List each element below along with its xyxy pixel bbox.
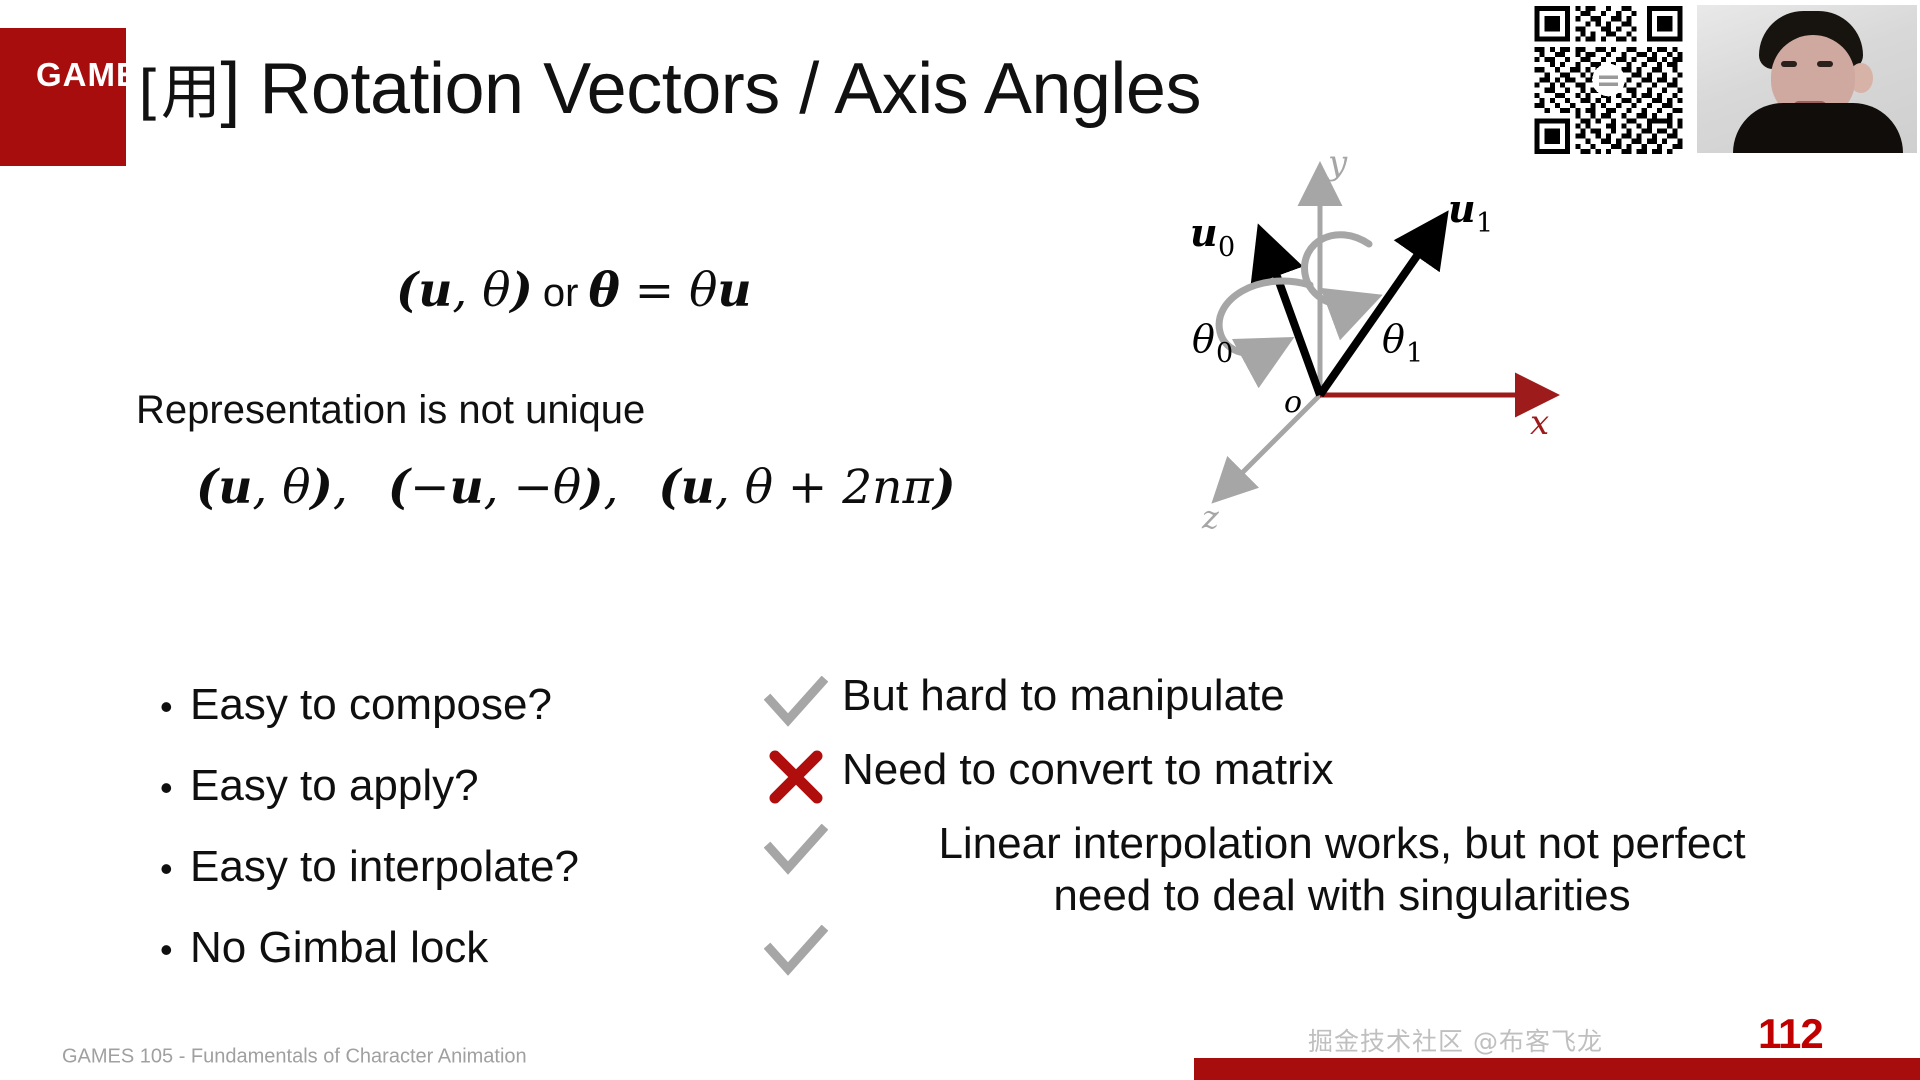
property-answer-list: But hard to manipulate Need to convert t… [750, 670, 1870, 936]
qr-code [1532, 6, 1685, 154]
bullet-dot-icon: • [160, 689, 190, 725]
webcam-torso [1733, 103, 1903, 153]
brand-accent-block [0, 28, 126, 166]
vector-u1-subscript: 1 [1476, 208, 1493, 239]
rotation-arc-theta1 [1305, 235, 1369, 306]
answer-label: Need to convert to matrix [842, 744, 1334, 796]
title-main-text: ] Rotation Vectors / Axis Angles [220, 49, 1201, 129]
title-bracket-open: [ [138, 58, 161, 128]
axis-angle-diagram: u 0 u 1 θ 0 θ 1 o x y z [1130, 150, 1650, 550]
vector-u0-label: u [1190, 210, 1218, 255]
check-icon [750, 925, 842, 979]
answer-label: But hard to manipulate [842, 670, 1285, 722]
check-icon [750, 670, 842, 730]
list-item-label: Easy to compose? [190, 680, 552, 730]
bullet-dot-icon: • [160, 770, 190, 806]
presenter-webcam [1697, 5, 1917, 153]
slide-canvas: GAMES [用] Rotation Vectors / Axis Angles [0, 0, 1920, 1080]
equation-non-unique-set: (u, θ),(−u, −θ),(u, θ + 2nπ) [196, 460, 956, 515]
check-icon [750, 818, 842, 878]
vector-u1-label: u [1448, 186, 1476, 231]
webcam-eye-right [1817, 61, 1833, 67]
cross-icon [750, 744, 842, 804]
origin-label: o [1284, 385, 1302, 420]
list-item-label: No Gimbal lock [190, 923, 488, 973]
page-number: 112 [1758, 1010, 1823, 1058]
list-item: • Easy to interpolate? [160, 842, 720, 923]
answer-row: But hard to manipulate [750, 670, 1870, 730]
vector-u0-subscript: 0 [1218, 232, 1235, 263]
axis-z-label: z [1201, 498, 1220, 536]
bullet-dot-icon: • [160, 932, 190, 968]
title-cjk-glyph: 用 [161, 58, 221, 128]
footer-course-label: GAMES 105 - Fundamentals of Character An… [62, 1046, 527, 1069]
angle-theta1-subscript: 1 [1406, 338, 1423, 369]
vector-u0 [1266, 246, 1320, 395]
footer-accent-bar [1194, 1058, 1920, 1080]
axis-y-label: y [1326, 150, 1348, 183]
answer-row: Need to convert to matrix [750, 744, 1870, 804]
list-item: • No Gimbal lock [160, 923, 720, 1004]
webcam-eye-left [1781, 61, 1797, 67]
bullet-dot-icon: • [160, 851, 190, 887]
angle-theta1-label: θ [1382, 317, 1405, 361]
list-item-label: Easy to interpolate? [190, 842, 579, 892]
answer-label: Linear interpolation works, but not perf… [842, 818, 1842, 922]
equation-axis-angle-pair: (u, θ)or𝜽 = θu [396, 263, 752, 318]
answer-row: Linear interpolation works, but not perf… [750, 818, 1870, 922]
property-question-list: • Easy to compose? • Easy to apply? • Ea… [160, 680, 720, 1004]
angle-theta0-subscript: 0 [1216, 338, 1233, 369]
equation-or-word: or [533, 271, 589, 315]
axis-x-label: x [1530, 403, 1549, 443]
list-item: • Easy to apply? [160, 761, 720, 842]
axis-z-line [1222, 395, 1320, 493]
watermark-label: 掘金技术社区 @布客飞龙 [1308, 1022, 1603, 1058]
page-title: [用] Rotation Vectors / Axis Angles [138, 44, 1201, 131]
list-item: • Easy to compose? [160, 680, 720, 761]
angle-theta0-label: θ [1192, 317, 1215, 361]
list-item-label: Easy to apply? [190, 761, 479, 811]
representation-note: Representation is not unique [136, 388, 645, 433]
vector-u1 [1320, 230, 1435, 395]
